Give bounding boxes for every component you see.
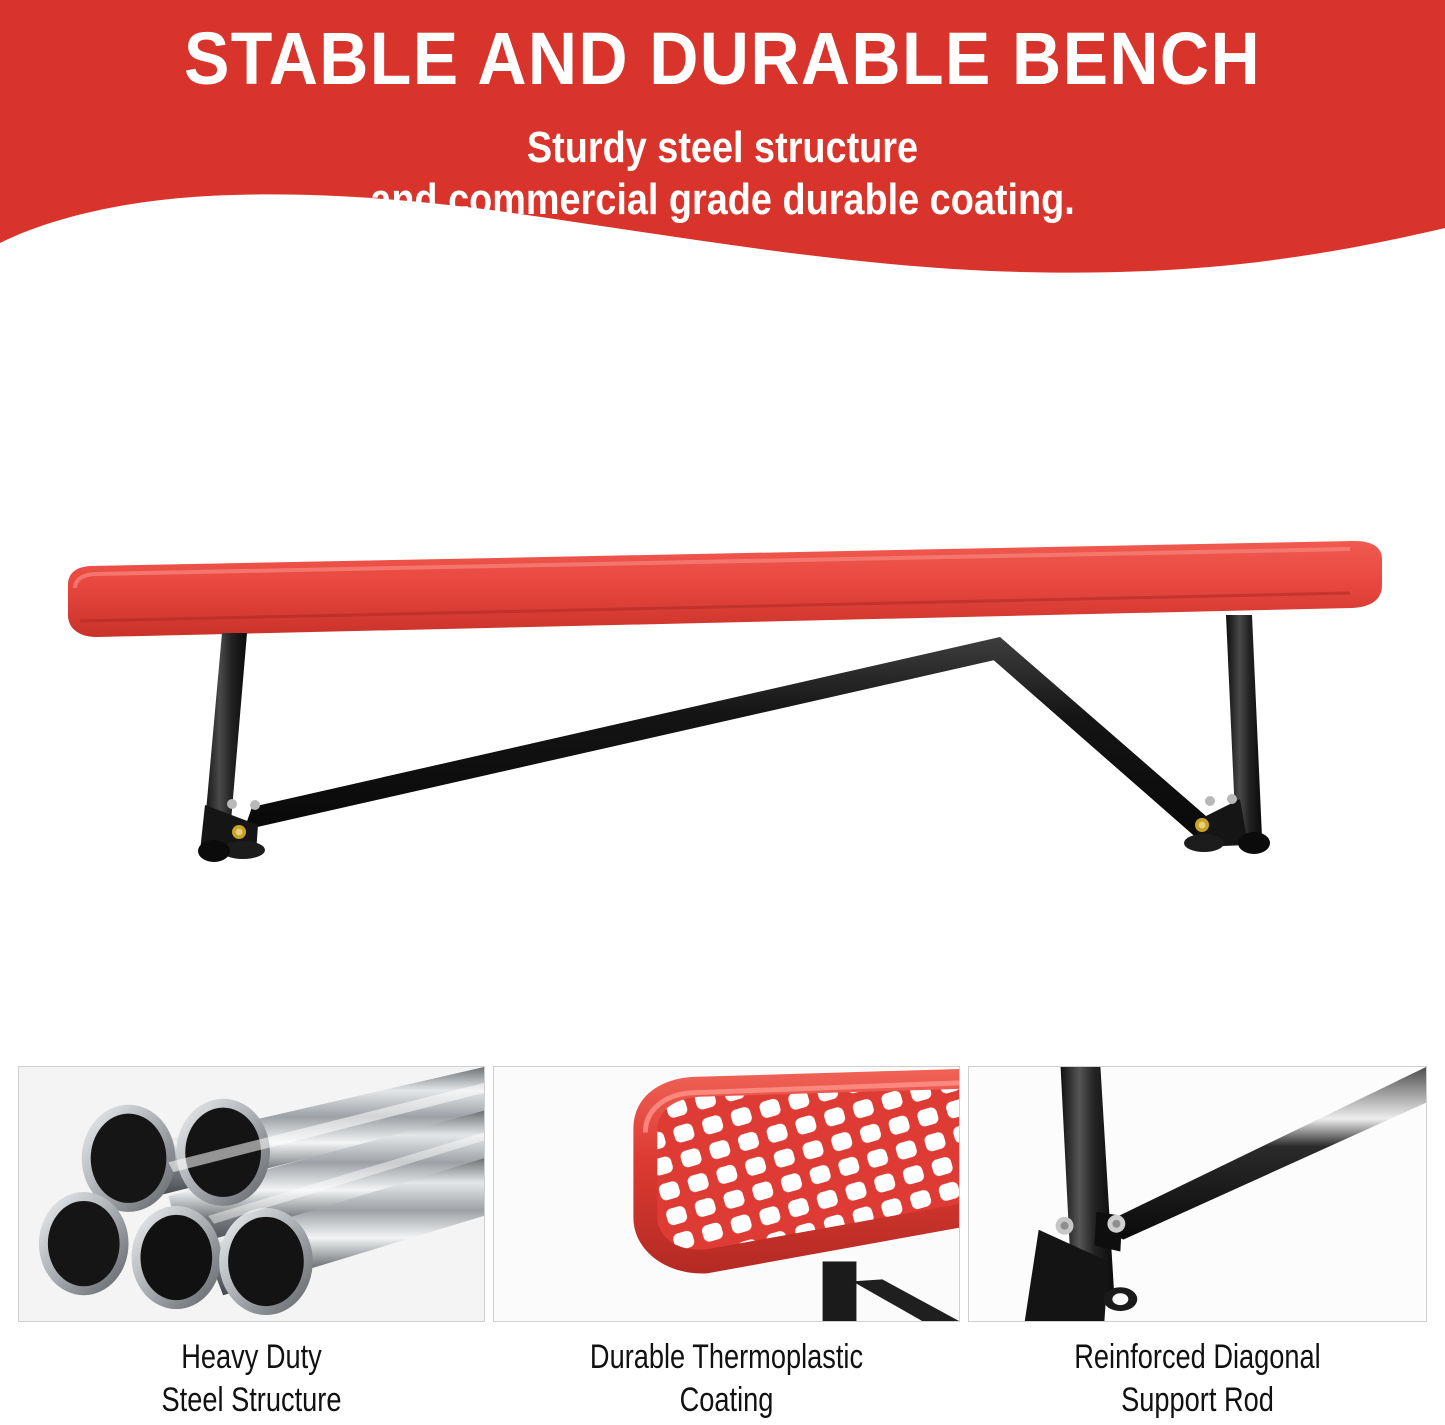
feature-caption-3-line-2: Support Rod	[1014, 1379, 1381, 1422]
feature-thumbnail-thermoplastic-coating[interactable]	[493, 1066, 960, 1322]
banner-title: STABLE AND DURABLE BENCH	[58, 16, 1387, 102]
banner-subtitle-line-2: and commercial grade durable coating.	[101, 174, 1344, 226]
steel-tubes-photo	[19, 1067, 484, 1321]
red-mesh-seat-corner-photo	[494, 1067, 959, 1321]
foot-cap-right	[1238, 832, 1270, 854]
bolt-left-upper	[227, 799, 237, 809]
bench-seat-front-rail	[68, 541, 1382, 637]
feature-caption-1-line-1: Heavy Duty	[65, 1336, 439, 1379]
feature-caption-3: Reinforced Diagonal Support Rod	[1014, 1336, 1381, 1422]
feature-caption-3-line-1: Reinforced Diagonal	[1014, 1336, 1381, 1379]
feature-caption-1: Heavy Duty Steel Structure	[65, 1336, 439, 1422]
feature-thumbnail-steel-tubes[interactable]	[18, 1066, 485, 1322]
diagonal-support-rod-right	[990, 637, 1214, 841]
feature-caption-2-line-1: Durable Thermoplastic	[540, 1336, 914, 1379]
banner-subtitle-line-1: Sturdy steel structure	[101, 122, 1344, 174]
foot-cap-left	[198, 840, 230, 862]
bench-illustration	[0, 285, 1445, 1045]
black-leg-diagonal-rod-photo	[969, 1067, 1426, 1321]
diagonal-support-rod-left	[244, 637, 1008, 830]
feature-thumbnails	[0, 1060, 1445, 1330]
bolt-left-brace	[250, 800, 260, 810]
promo-banner: STABLE AND DURABLE BENCH Sturdy steel st…	[0, 0, 1445, 285]
bench-leg-left	[198, 633, 1008, 862]
feature-thumbnail-support-rod[interactable]	[968, 1066, 1427, 1322]
hero-product-image	[0, 285, 1445, 1045]
feature-captions: Heavy Duty Steel Structure Durable Therm…	[0, 1336, 1445, 1424]
leg-segment	[823, 1261, 857, 1321]
feature-caption-1-line-2: Steel Structure	[65, 1379, 439, 1422]
bench-leg-right	[990, 615, 1270, 854]
feature-caption-2-line-2: Coating	[540, 1379, 914, 1422]
bolt-right-brace	[1205, 796, 1215, 806]
banner-subtitle: Sturdy steel structure and commercial gr…	[101, 122, 1344, 226]
feature-caption-2: Durable Thermoplastic Coating	[540, 1336, 914, 1422]
bolt-right-upper	[1227, 794, 1237, 804]
